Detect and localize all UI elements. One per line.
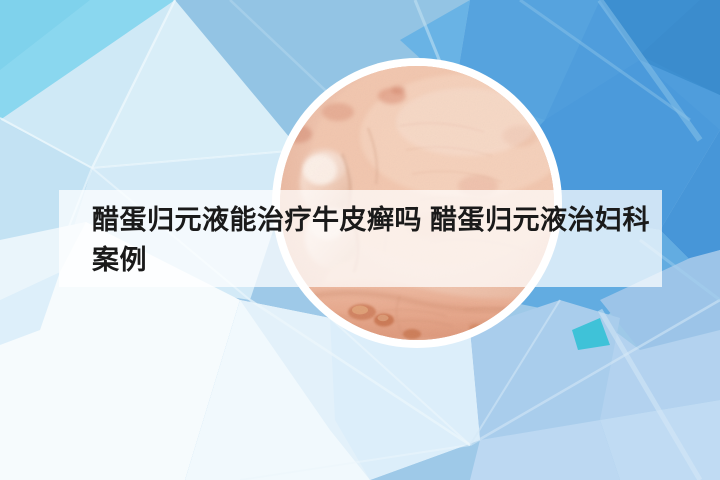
banner-canvas: 醋蛋归元液能治疗牛皮癣吗 醋蛋归元液治妇科案例 [0,0,720,480]
page-title: 醋蛋归元液能治疗牛皮癣吗 醋蛋归元液治妇科案例 [92,200,652,280]
